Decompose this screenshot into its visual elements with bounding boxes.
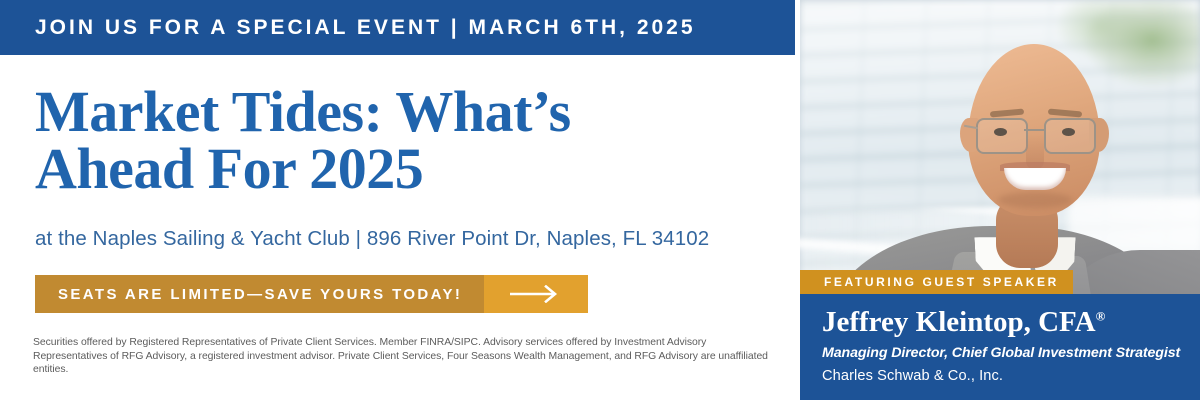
venue-line: at the Naples Sailing & Yacht Club | 896… <box>35 227 709 251</box>
left-content-column: Market Tides: What’s Ahead For 2025 at t… <box>0 55 795 400</box>
register-cta-button[interactable]: SEATS ARE LIMITED—SAVE YOURS TODAY! <box>35 275 588 313</box>
glasses-bridge <box>1024 129 1044 131</box>
speaker-title: Managing Director, Chief Global Investme… <box>822 345 1180 361</box>
page-title: Market Tides: What’s Ahead For 2025 <box>35 83 775 197</box>
headline-line-2: Ahead For 2025 <box>35 140 775 197</box>
cta-label[interactable]: SEATS ARE LIMITED—SAVE YOURS TODAY! <box>35 275 484 313</box>
speaker-info-panel: Jeffrey Kleintop, CFA® Managing Director… <box>800 294 1200 400</box>
eyebrow-bar: JOIN US FOR A SPECIAL EVENT | MARCH 6TH,… <box>0 0 795 55</box>
lens-left <box>976 118 1028 154</box>
arrow-right-icon <box>508 285 564 303</box>
featuring-speaker-bar: FEATURING GUEST SPEAKER <box>800 270 1073 294</box>
eyebrow-text: JOIN US FOR A SPECIAL EVENT | MARCH 6TH,… <box>0 16 696 40</box>
chin-shadow <box>998 192 1072 208</box>
speaker-name: Jeffrey Kleintop, CFA® <box>822 306 1105 339</box>
featuring-speaker-label: FEATURING GUEST SPEAKER <box>800 275 1059 289</box>
event-banner: JOIN US FOR A SPECIAL EVENT | MARCH 6TH,… <box>0 0 1200 400</box>
disclaimer-text: Securities offered by Registered Represe… <box>33 336 771 377</box>
cta-arrow-area[interactable] <box>484 275 588 313</box>
headline-line-1: Market Tides: What’s <box>35 79 571 144</box>
lens-right <box>1044 118 1096 154</box>
registered-mark-icon: ® <box>1096 308 1106 323</box>
speaker-firm: Charles Schwab & Co., Inc. <box>822 368 1003 384</box>
speaker-name-text: Jeffrey Kleintop, CFA <box>822 306 1096 338</box>
